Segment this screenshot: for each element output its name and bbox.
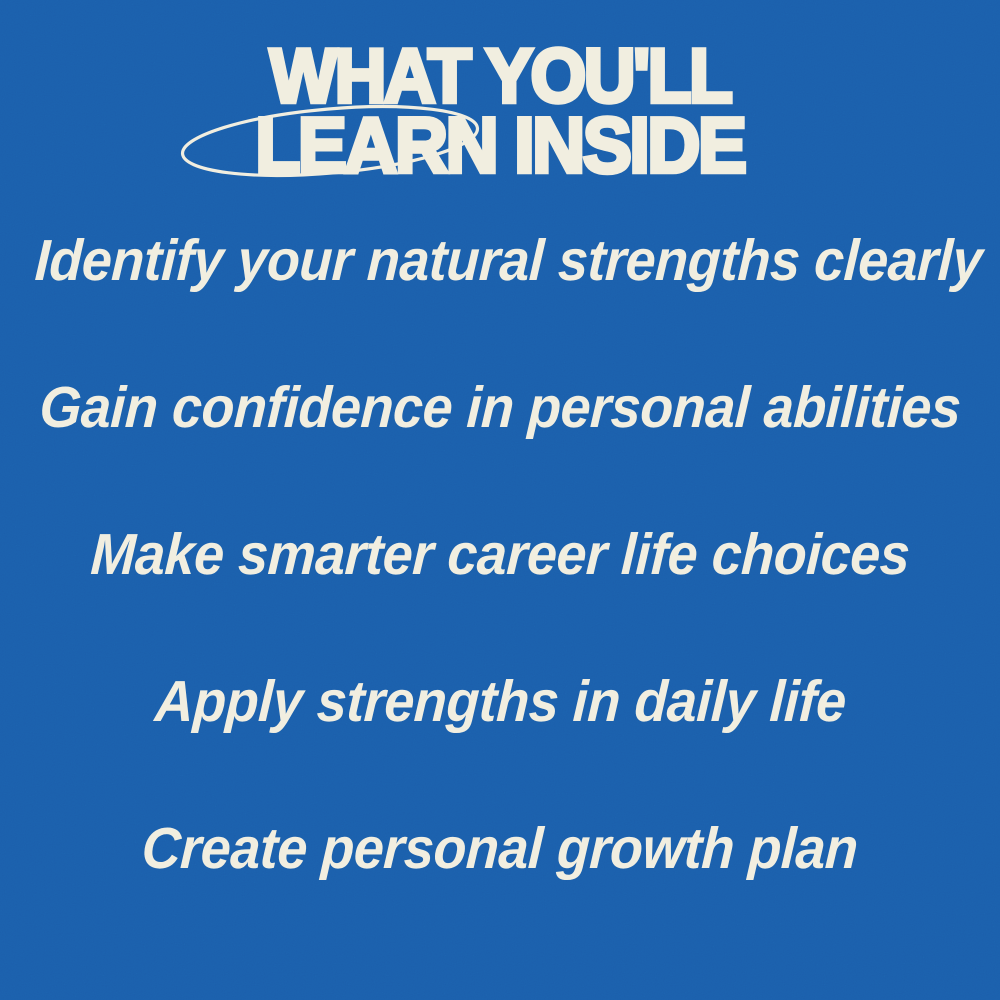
benefit-text-4: Apply strengths in daily life bbox=[153, 673, 847, 731]
benefit-item-3: Make smarter career life choices bbox=[35, 526, 965, 673]
headline-line-1: WHAT YOU'LL bbox=[30, 44, 970, 109]
headline-block: WHAT YOU'LL LEARN INSIDE bbox=[0, 44, 1000, 179]
benefit-text-1: Identify your natural strengths clearly bbox=[34, 232, 984, 290]
benefit-item-2: Gain confidence in personal abilities bbox=[35, 379, 965, 526]
benefit-text-3: Make smarter career life choices bbox=[89, 526, 911, 584]
poster-canvas: WHAT YOU'LL LEARN INSIDE Identify your n… bbox=[0, 0, 1000, 1000]
benefit-text-5: Create personal growth plan bbox=[141, 820, 860, 878]
benefit-text-2: Gain confidence in personal abilities bbox=[38, 379, 962, 437]
benefit-item-1: Identify your natural strengths clearly bbox=[35, 232, 965, 379]
benefit-item-4: Apply strengths in daily life bbox=[35, 673, 965, 820]
benefits-list: Identify your natural strengths clearly … bbox=[0, 232, 1000, 967]
headline-line-2: LEARN INSIDE bbox=[30, 112, 970, 179]
benefit-item-5: Create personal growth plan bbox=[35, 820, 965, 967]
